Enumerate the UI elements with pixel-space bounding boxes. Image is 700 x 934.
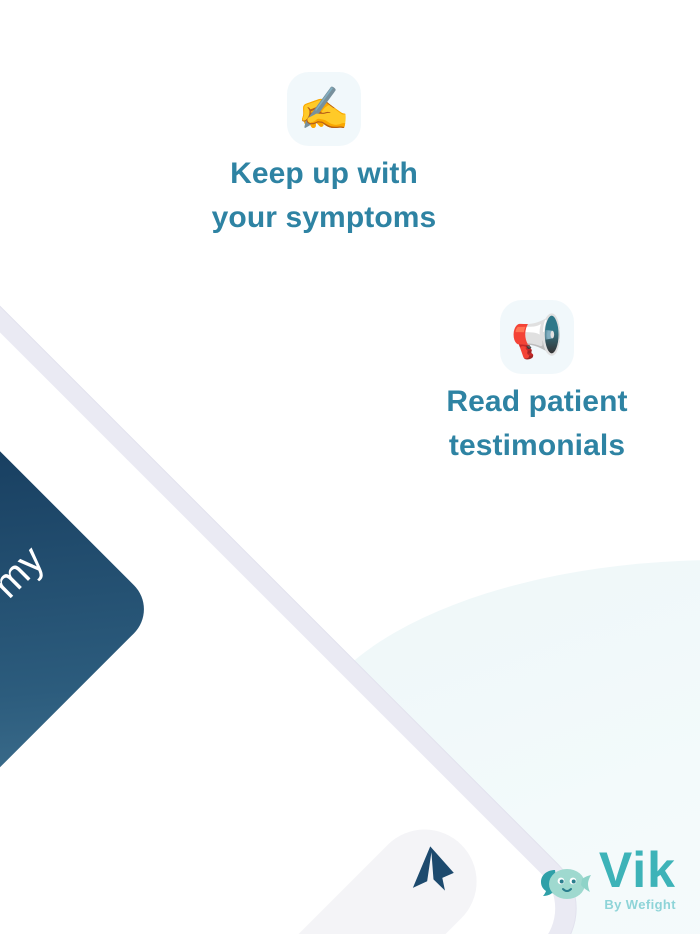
brand-tagline: By Wefight (604, 897, 676, 912)
brand-logo: Vik By Wefight (537, 847, 676, 913)
feature-read-patient-testimonials: 📢 Read patient testimonials (377, 300, 697, 467)
vik-mascot-icon (537, 858, 595, 906)
phone-screen: What are the possible treatments for my … (0, 163, 576, 934)
feature-title-line2: your symptoms (164, 196, 484, 240)
loudspeaker-icon: 📢 (500, 300, 574, 374)
phone-mockup: What are the possible treatments for my … (0, 138, 601, 934)
feature-title-line2: testimonials (377, 424, 697, 468)
chat-bubble-user-message: What are the possible treatments for my … (0, 399, 158, 889)
promo-screen: What are the possible treatments for my … (0, 0, 700, 934)
feature-keep-up-with-symptoms: ✍️ Keep up with your symptoms (164, 72, 484, 239)
writing-hand-icon: ✍️ (287, 72, 361, 146)
phone-shell: What are the possible treatments for my … (0, 138, 601, 934)
feature-title-line1: Read patient (377, 380, 697, 424)
brand-name: Vik (599, 847, 676, 895)
send-paper-plane-icon (395, 841, 466, 912)
feature-title-line1: Keep up with (164, 152, 484, 196)
